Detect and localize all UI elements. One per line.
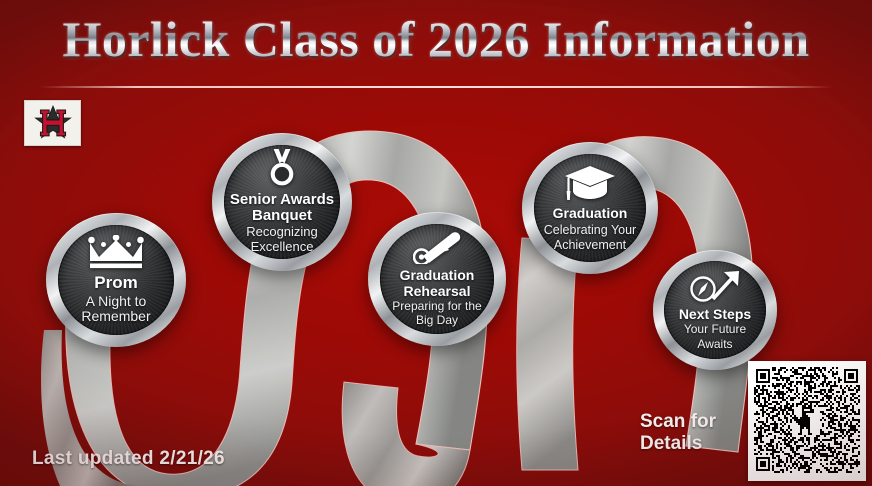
title-divider — [40, 86, 832, 88]
badge-subtitle-line1: Preparing for the — [392, 300, 481, 313]
badge-subtitle-line2: Big Day — [416, 314, 458, 327]
page-title: Horlick Class of 2026 Information — [62, 14, 809, 65]
star-h-icon — [28, 103, 78, 143]
badge-title: Next Steps — [679, 307, 751, 322]
badge-subtitle-line1: A Night to — [86, 294, 147, 310]
poster-canvas: Horlick Class of 2026 Information — [0, 0, 872, 486]
badge-subtitle-line1: Recognizing — [246, 225, 318, 240]
badge-subtitle-line2: Achievement — [554, 238, 626, 252]
badge-title-line2: Rehearsal — [404, 284, 471, 299]
qr-code-image[interactable] — [754, 367, 860, 475]
badge-subtitle-line1: Your Future — [684, 323, 746, 336]
badge-face: Graduation Celebrating Your Achievement — [534, 154, 646, 262]
badge-face: Prom A Night to Remember — [58, 225, 174, 335]
badge-subtitle-line2: Awaits — [697, 338, 732, 351]
graduation-cap-icon — [564, 164, 616, 202]
medal-icon — [264, 149, 300, 188]
qr-code-card[interactable] — [748, 361, 866, 481]
timeline-badge-next-steps[interactable]: Next Steps Your Future Awaits — [653, 250, 777, 370]
badge-subtitle-line1: Celebrating Your — [544, 223, 636, 237]
badge-title-line2: Banquet — [252, 208, 312, 224]
horlick-h-star-logo — [24, 100, 81, 146]
title-container: Horlick Class of 2026 Information — [0, 14, 872, 65]
diploma-scroll-icon — [413, 230, 461, 264]
timeline-badge-graduation-rehearsal[interactable]: Graduation Rehearsal Preparing for the B… — [368, 212, 506, 346]
last-updated-text: Last updated 2/21/26 — [32, 448, 225, 470]
badge-title: Prom — [94, 274, 137, 292]
timeline-badge-senior-awards-banquet[interactable]: Senior Awards Banquet Recognizing Excell… — [212, 133, 352, 271]
scan-line-1: Scan for — [640, 411, 716, 433]
badge-subtitle-line2: Remember — [81, 309, 150, 325]
badge-title: Graduation — [553, 206, 628, 221]
compass-arrow-icon — [689, 269, 741, 303]
scan-for-details-label: Scan for Details — [640, 411, 716, 456]
badge-subtitle-line2: Excellence — [251, 240, 314, 255]
badge-title-line1: Senior Awards — [230, 192, 334, 208]
timeline-badge-graduation[interactable]: Graduation Celebrating Your Achievement — [522, 142, 658, 274]
scan-line-2: Details — [640, 433, 716, 455]
badge-face: Next Steps Your Future Awaits — [664, 261, 766, 359]
badge-face: Senior Awards Banquet Recognizing Excell… — [224, 145, 340, 259]
timeline-badge-prom[interactable]: Prom A Night to Remember — [46, 213, 186, 347]
badge-face: Graduation Rehearsal Preparing for the B… — [380, 224, 494, 334]
badge-title-line1: Graduation — [400, 268, 475, 283]
crown-icon — [87, 235, 145, 269]
